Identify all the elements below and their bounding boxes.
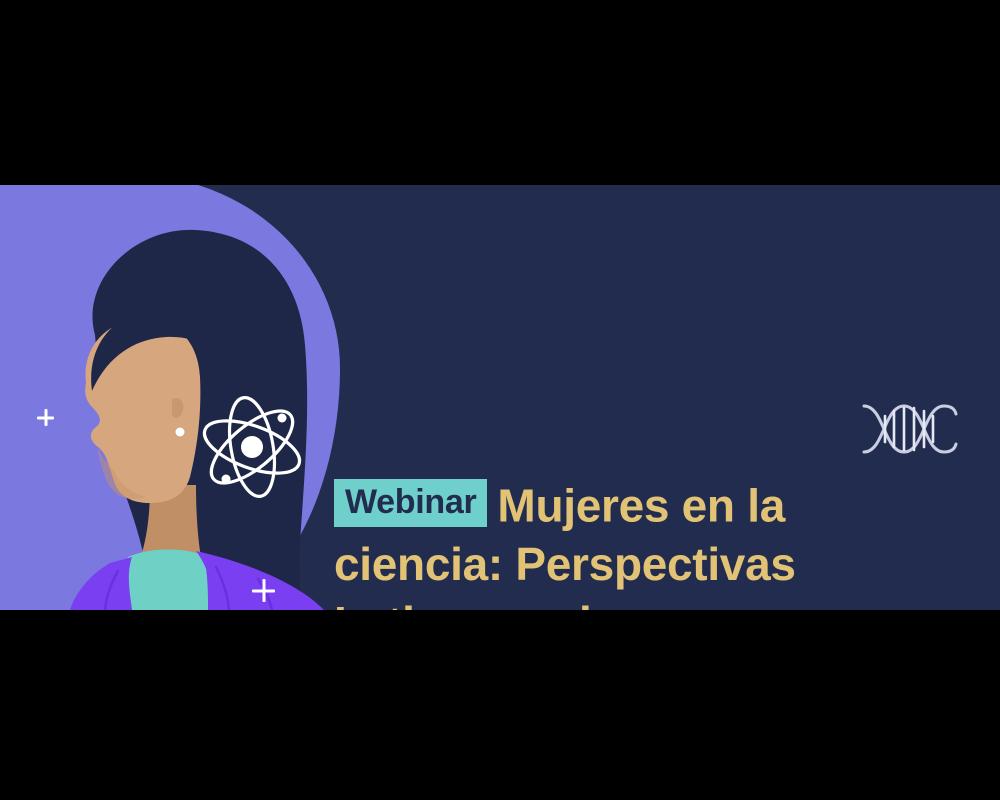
headline-line-2: ciencia: Perspectivas: [334, 535, 934, 594]
atom-icon: [198, 393, 306, 501]
plus-mark-icon: [37, 409, 54, 426]
banner-headline: WebinarMujeres en la ciencia: Perspectiv…: [334, 473, 934, 610]
webinar-banner: OH CH₃: [0, 185, 1000, 610]
earring: [176, 428, 185, 437]
headline-line-1: WebinarMujeres en la: [334, 473, 934, 535]
webinar-badge: Webinar: [334, 479, 487, 527]
plus-mark-icon: [252, 579, 275, 602]
headline-title-part-1: Mujeres en la: [497, 479, 785, 531]
screenshot-canvas: OH CH₃: [0, 0, 1000, 800]
headline-line-3: Latinoamericanas: [334, 594, 934, 610]
dna-helix-icon: [860, 398, 960, 460]
